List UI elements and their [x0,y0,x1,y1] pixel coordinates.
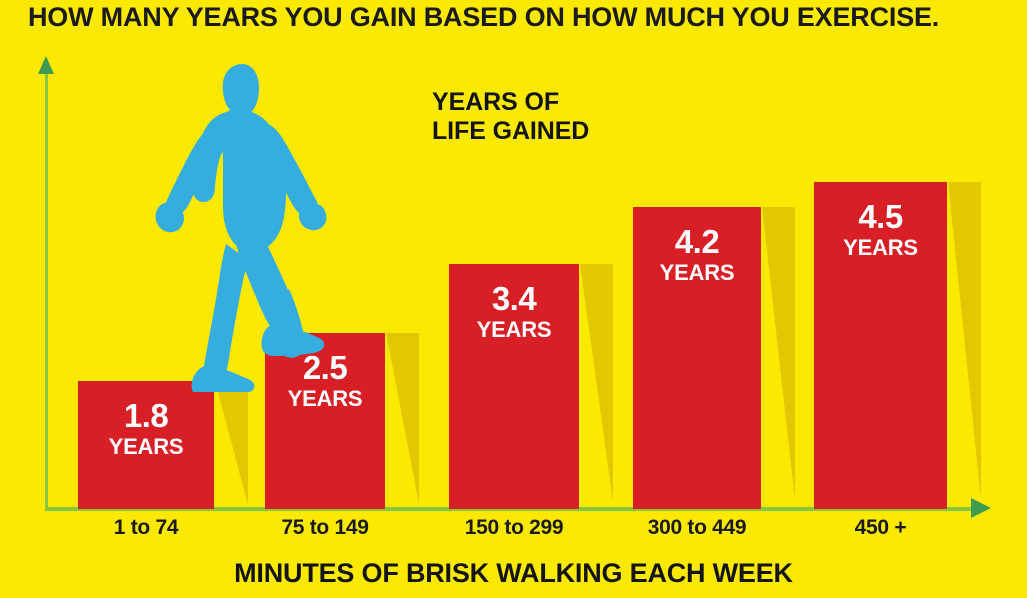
bar-label-3: 3.4 YEARS [449,282,579,341]
bar-unit-1: YEARS [78,436,214,458]
bar-value-4: 4.2 [633,225,761,258]
bar-4[interactable]: 4.2 YEARS [633,207,761,509]
bar-shadow-1 [214,381,248,509]
bar-value-1: 1.8 [78,399,214,432]
bar-unit-4: YEARS [633,262,761,284]
bar-group-1: 1.8 YEARS [78,381,214,509]
bar-shadow-2 [385,333,419,509]
bar-label-5: 4.5 YEARS [814,200,947,259]
bar-value-5: 4.5 [814,200,947,233]
x-axis-title: MINUTES OF BRISK WALKING EACH WEEK [0,558,1027,589]
bar-value-3: 3.4 [449,282,579,315]
bar-group-3: 3.4 YEARS [449,264,579,509]
walking-man-icon [146,62,332,392]
bar-3[interactable]: 3.4 YEARS [449,264,579,509]
bar-group-4: 4.2 YEARS [633,207,761,509]
bar-label-4: 4.2 YEARS [633,225,761,284]
bar-1[interactable]: 1.8 YEARS [78,381,214,509]
tick-label-4: 300 to 449 [623,516,771,540]
bar-unit-5: YEARS [814,237,947,259]
bar-5[interactable]: 4.5 YEARS [814,182,947,509]
bar-unit-3: YEARS [449,319,579,341]
infographic-canvas: HOW MANY YEARS YOU GAIN BASED ON HOW MUC… [0,0,1027,598]
bar-shadow-3 [579,264,613,509]
bar-label-1: 1.8 YEARS [78,399,214,458]
tick-label-1: 1 to 74 [78,516,214,540]
bar-shadow-4 [761,207,795,509]
tick-label-5: 450 + [814,516,947,540]
bar-group-5: 4.5 YEARS [814,182,947,509]
bar-shadow-5 [947,182,981,509]
tick-label-2: 75 to 149 [258,516,392,540]
tick-label-3: 150 to 299 [440,516,588,540]
